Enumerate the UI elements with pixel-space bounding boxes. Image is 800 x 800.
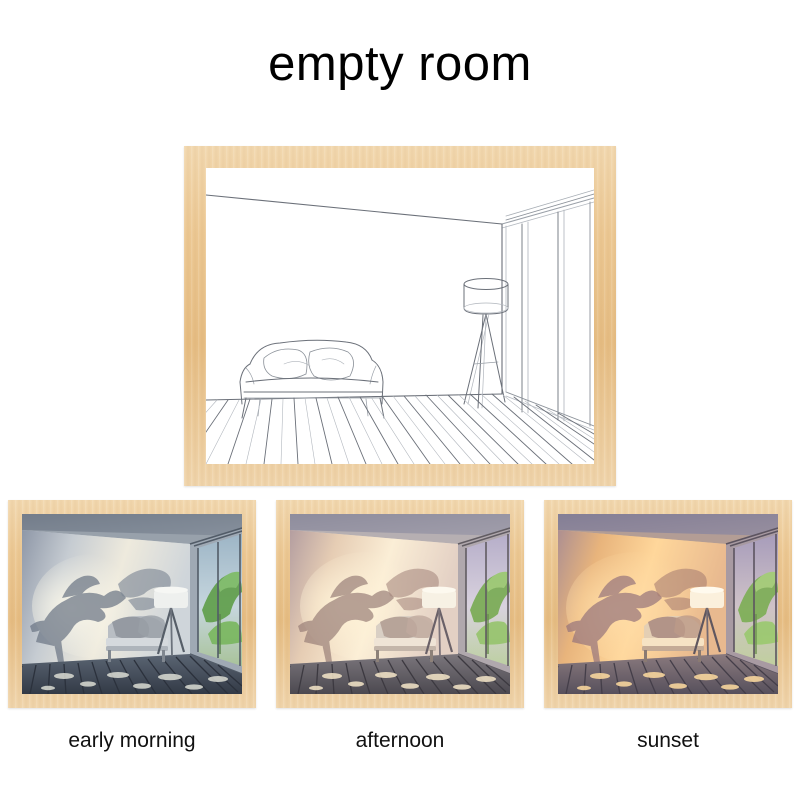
scene-svg-afternoon [290, 514, 510, 694]
variant-label-afternoon: afternoon [276, 730, 524, 751]
main-preview-frame[interactable] [184, 146, 616, 486]
empty-room-line-drawing [206, 168, 594, 464]
variant-label-sunset: sunset [544, 730, 792, 751]
main-preview-mat [206, 168, 594, 464]
variant-frame-afternoon[interactable] [276, 500, 524, 708]
scene-svg-early-morning [22, 514, 242, 694]
variant-label-early-morning: early morning [8, 730, 256, 751]
variant-frame-early-morning[interactable] [8, 500, 256, 708]
variant-mat-afternoon [290, 514, 510, 694]
variant-mat-early-morning [22, 514, 242, 694]
variant-scene-early-morning [22, 514, 242, 694]
variant-scene-afternoon [290, 514, 510, 694]
variant-frame-sunset[interactable] [544, 500, 792, 708]
scene-svg-sunset [558, 514, 778, 694]
variant-scene-sunset [558, 514, 778, 694]
page-title: empty room [0, 40, 800, 89]
line-drawing-svg [206, 168, 594, 464]
variant-mat-sunset [558, 514, 778, 694]
preview-stage: empty room [0, 0, 800, 800]
